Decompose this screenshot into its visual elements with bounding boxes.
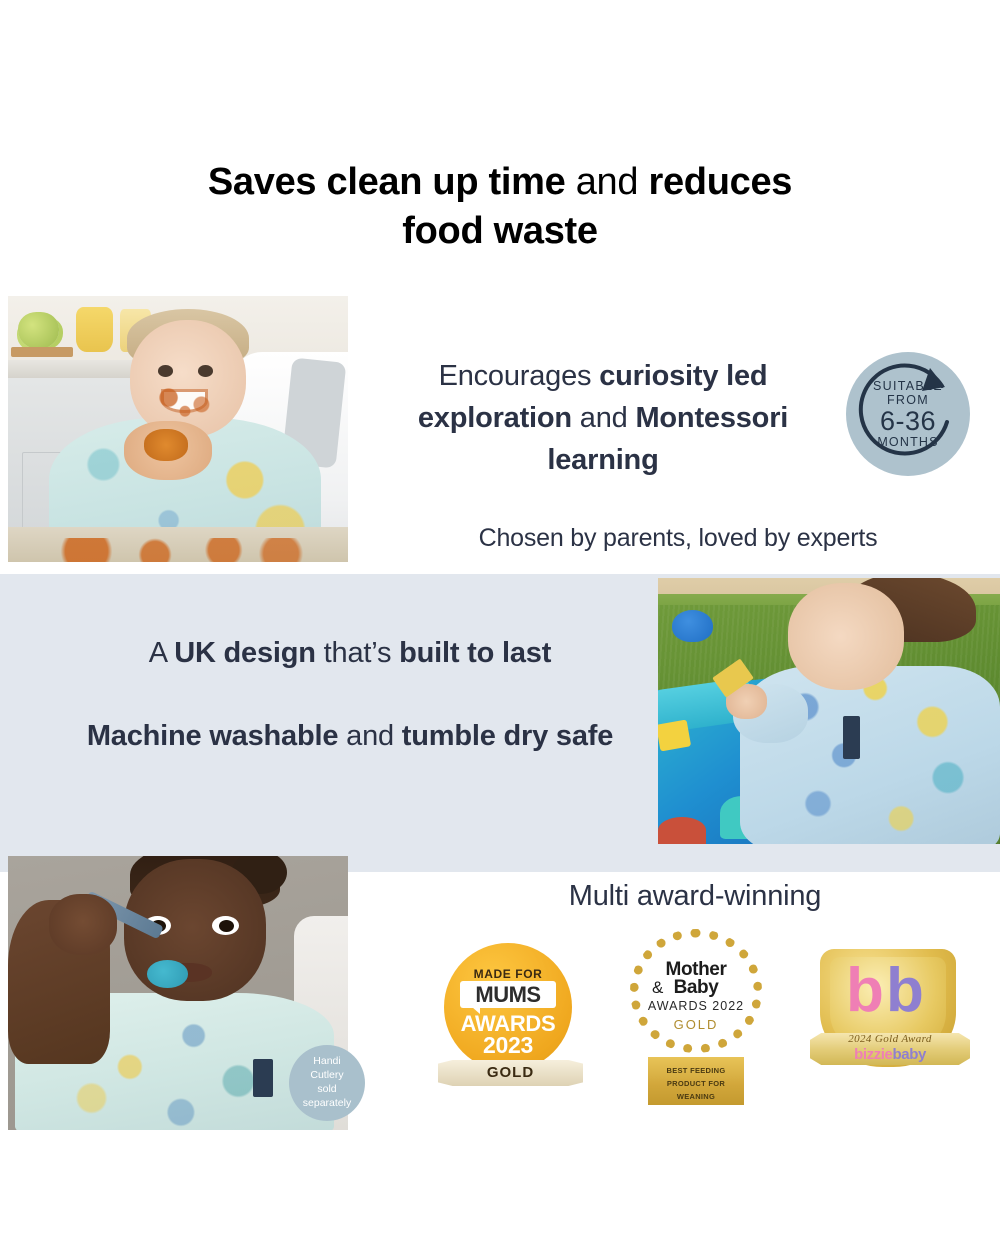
photo-toddler-at-water-table <box>658 578 1000 844</box>
feature-1-reg-1: Encourages <box>439 360 600 392</box>
mb-banner-text: BEST FEEDING PRODUCT FOR WEANING <box>648 1065 744 1103</box>
awards-row: MADE FOR MUMS AWARDS 2023 GOLD Mother & … <box>400 925 1000 1105</box>
toddler-pupil-right <box>219 920 234 932</box>
feature-3-bold-1: Machine washable <box>87 720 338 752</box>
mb-brand-bottom: Baby <box>622 977 770 999</box>
handi-note-text: Handi Cutlery sold separately <box>303 1055 351 1110</box>
toddler-hand <box>49 894 117 954</box>
mb-banner-line-3: WEANING <box>677 1092 715 1101</box>
food-mess-on-face <box>144 384 226 419</box>
headline-line-2: food waste <box>402 210 597 252</box>
feature-2-reg-1: A <box>149 637 174 669</box>
badge-line-2: FROM <box>887 393 929 407</box>
feature-montessori-text: Encourages curiosity led exploration and… <box>378 355 828 481</box>
feature-3-reg-1: and <box>338 720 402 752</box>
grapes <box>18 312 59 349</box>
feature-uk-design-text: A UK design that’s built to last <box>60 632 640 674</box>
headline-bold-2: reduces <box>648 161 792 203</box>
photo-baby-in-highchair <box>8 296 348 562</box>
feature-2-reg-2: that’s <box>316 637 399 669</box>
mums-year-label: 2023 <box>438 1032 578 1059</box>
mums-made-for-label: MADE FOR <box>438 967 578 981</box>
spilled-food <box>35 538 321 562</box>
headline-reg-1: and <box>565 161 648 203</box>
blue-toy-cone <box>672 610 713 642</box>
mb-banner-line-2: PRODUCT FOR <box>667 1079 725 1088</box>
handi-cutlery-note: Handi Cutlery sold separately <box>289 1045 365 1121</box>
yellow-toy <box>658 719 691 751</box>
handi-line-2: Cutlery <box>310 1069 343 1081</box>
mb-banner-line-1: BEST FEEDING <box>666 1066 725 1075</box>
handi-line-1: Handi <box>313 1055 340 1067</box>
badge-line-1: SUITABLE <box>873 379 943 393</box>
mums-level-label: GOLD <box>438 1064 583 1081</box>
badge-line-4: MONTHS <box>877 435 938 449</box>
page-headline: Saves clean up time and reduces food was… <box>0 158 1000 255</box>
feature-2-bold-1: UK design <box>174 637 316 669</box>
garden-scene <box>658 578 1000 844</box>
badge-age-range: 6-36 <box>880 407 936 435</box>
handi-line-3: sold <box>317 1083 336 1095</box>
brand-tag <box>253 1059 273 1097</box>
food-in-hands <box>144 429 188 461</box>
red-toy <box>658 817 706 844</box>
headline-bold-1: Saves clean up time <box>208 161 566 203</box>
handi-line-4: separately <box>303 1097 351 1109</box>
baby-head <box>130 320 246 437</box>
feature-1-reg-2: and <box>572 402 636 434</box>
toddler-head <box>788 583 904 689</box>
yellow-jug <box>76 307 113 352</box>
bb-monogram-second: b <box>886 963 920 1019</box>
tagline-chosen-by-parents: Chosen by parents, loved by experts <box>378 524 978 553</box>
feature-3-bold-2: tumble dry safe <box>402 720 613 752</box>
mb-awards-label: AWARDS 2022 <box>622 999 770 1013</box>
bb-year-award-label: 2024 Gold Award <box>810 1033 970 1045</box>
awards-section-title: Multi award-winning <box>400 880 990 913</box>
award-badge-made-for-mums: MADE FOR MUMS AWARDS 2023 GOLD <box>438 943 583 1093</box>
chopping-board <box>11 347 72 358</box>
kitchen-scene <box>8 296 348 562</box>
award-badge-mother-and-baby: Mother & Baby AWARDS 2022 GOLD BEST FEED… <box>622 929 770 1104</box>
bb-wordmark-part-1: bizzie <box>854 1046 892 1063</box>
baby-eye-left <box>158 365 173 377</box>
award-badge-bizziebaby: b b 2024 Gold Award bizziebaby <box>810 949 970 1084</box>
badge-text: SUITABLE FROM 6-36 MONTHS <box>846 352 970 476</box>
bb-wordmark: bizziebaby <box>810 1046 970 1063</box>
brand-tag <box>843 716 860 759</box>
spoon-bowl <box>147 960 188 987</box>
suitable-from-badge: SUITABLE FROM 6-36 MONTHS <box>846 352 970 476</box>
bb-wordmark-part-2: baby <box>893 1046 926 1063</box>
bb-monogram-first: b <box>846 963 880 1019</box>
mb-level-label: GOLD <box>622 1017 770 1032</box>
feature-machine-washable-text: Machine washable and tumble dry safe <box>60 715 640 757</box>
mums-brand-label: MUMS <box>460 982 556 1008</box>
feature-2-bold-2: built to last <box>399 637 551 669</box>
